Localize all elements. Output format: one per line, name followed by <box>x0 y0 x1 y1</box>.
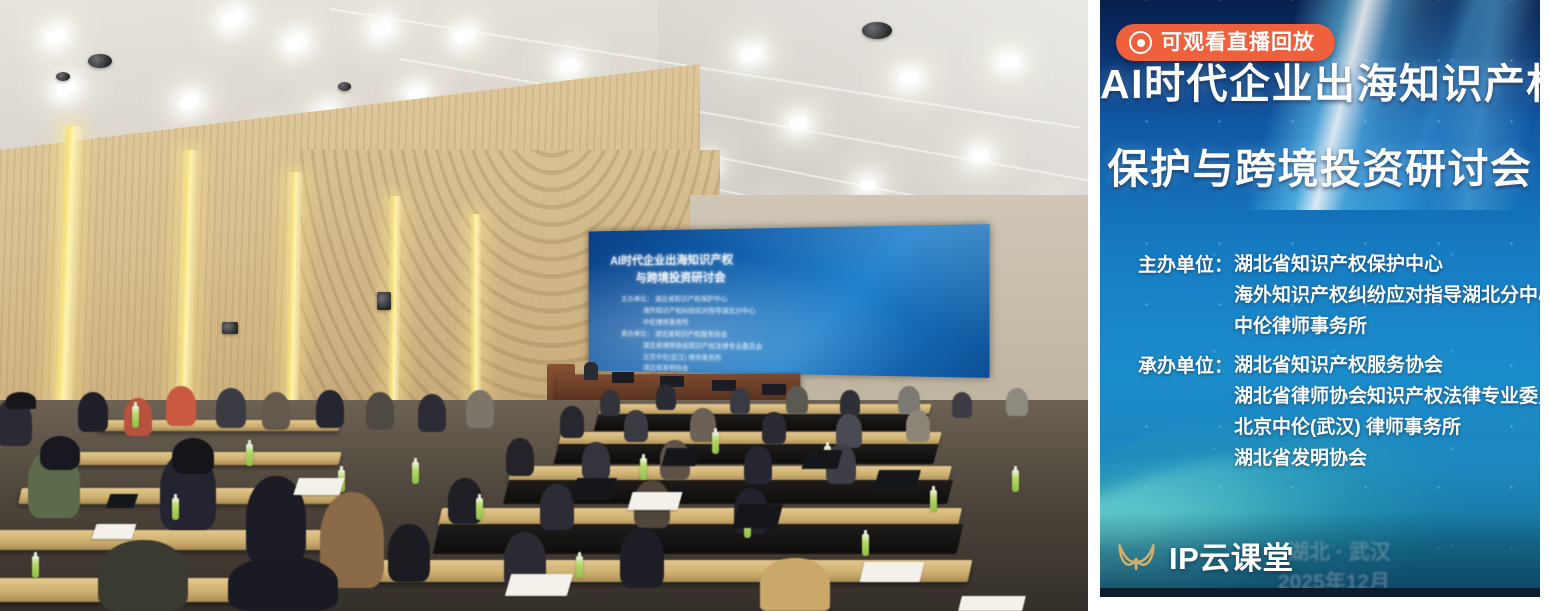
water-bottle <box>246 444 253 466</box>
organizer-item: 湖北省知识产权服务协会 <box>1234 351 1540 382</box>
water-bottle <box>32 556 39 578</box>
poster-title-line2: 保护与跨境投资研讨会 <box>1100 135 1540 195</box>
water-bottle <box>640 458 647 480</box>
audience-member <box>78 392 108 432</box>
audience-member <box>418 394 446 432</box>
audience-member <box>656 384 676 410</box>
event-poster-image: 可观看直播回放 AI时代企业出海知识产权 保护与跨境投资研讨会 主办单位： 湖北… <box>1100 0 1540 597</box>
water-bottle <box>172 498 179 520</box>
table-monitor <box>612 372 634 383</box>
document-sheet <box>627 492 682 510</box>
water-bottle <box>476 498 483 520</box>
screen-body-1: 海外知识产权纠纷应对指导湖北分中心 <box>643 306 756 316</box>
audience-member <box>744 446 772 484</box>
screen-body-6: 湖北省发明协会 <box>643 363 689 374</box>
smartphone <box>106 494 139 508</box>
audience-member <box>624 410 648 442</box>
screen-body-4: 湖北省律师协会知识产权法律专业委员会 <box>643 341 762 352</box>
document-sheet <box>293 478 345 495</box>
water-bottle <box>1012 470 1019 492</box>
audience-member <box>582 442 610 480</box>
organizer-item: 中伦律师事务所 <box>1234 312 1540 343</box>
organizer-list-host: 湖北省知识产权保护中心 海外知识产权纠纷应对指导湖北分中心 中伦律师事务所 <box>1234 250 1540 342</box>
organizer-group-co-host: 承办单位： 湖北省知识产权服务协会 湖北省律师协会知识产权法律专业委员会 北京中… <box>1138 351 1538 474</box>
document-sheet <box>860 562 925 582</box>
poster-place-text: 湖北 · 武汉 <box>1288 536 1391 566</box>
organizer-group-host: 主办单位： 湖北省知识产权保护中心 海外知识产权纠纷应对指导湖北分中心 中伦律师… <box>1138 250 1538 342</box>
water-bottle <box>132 406 139 428</box>
ceiling-light <box>999 55 1018 69</box>
audience-member <box>388 524 430 582</box>
led-screen: AI时代企业出海知识产权 与跨境投资研讨会 主办单位： 湖北省知识产权保护中心 … <box>589 224 990 378</box>
poster-title-line1: AI时代企业出海知识产权 <box>1100 50 1540 110</box>
audience-member <box>216 388 246 428</box>
organizer-label-host: 主办单位： <box>1138 250 1234 277</box>
audience-member <box>620 528 664 588</box>
laptop <box>733 504 783 528</box>
audience-member <box>1006 388 1028 416</box>
water-bottle <box>930 490 937 512</box>
audience-member <box>98 540 188 611</box>
document-sheet <box>505 574 573 596</box>
audience-member <box>316 390 344 428</box>
ceiling-light <box>971 149 988 162</box>
speaker-at-podium <box>584 362 598 380</box>
audience-cap <box>6 392 36 409</box>
brand-name: IP云课堂 <box>1169 543 1294 574</box>
audience-member <box>228 556 338 611</box>
audience-member <box>952 392 972 418</box>
table-monitor <box>762 384 786 395</box>
ceiling-speaker <box>862 22 892 39</box>
audience-member <box>840 390 860 416</box>
screen-body-3: 承办单位： 湖北省知识产权服务协会 <box>621 329 727 340</box>
audience-member <box>466 390 494 428</box>
screen-title-line2: 与跨境投资研讨会 <box>636 268 726 285</box>
screen-body-0: 主办单位： 湖北省知识产权保护中心 <box>621 294 727 304</box>
composite-image: AI时代企业出海知识产权 与跨境投资研讨会 主办单位： 湖北省知识产权保护中心 … <box>0 0 1549 611</box>
brand-lockup: IP云课堂 <box>1116 541 1294 575</box>
audience-member <box>730 388 750 414</box>
water-bottle <box>576 556 583 578</box>
document-sheet <box>958 596 1026 611</box>
audience-head <box>40 436 80 470</box>
laptop <box>801 450 842 469</box>
document-sheet <box>92 524 137 539</box>
organizer-block: 主办单位： 湖北省知识产权保护中心 海外知识产权纠纷应对指导湖北分中心 中伦律师… <box>1138 250 1538 483</box>
laptop <box>571 478 617 500</box>
audience-member <box>560 406 584 438</box>
screen-body-5: 北京中伦(武汉) 律师事务所 <box>643 352 721 363</box>
audience-head <box>172 438 214 474</box>
ceiling-speaker <box>56 72 70 81</box>
audience-member <box>906 410 930 442</box>
organizer-item: 湖北省律师协会知识产权法律专业委员会 <box>1234 382 1540 413</box>
laptop <box>661 448 700 466</box>
water-bottle <box>712 432 719 454</box>
screen-body-2: 中伦律师事务所 <box>643 317 689 327</box>
audience-member <box>540 484 574 530</box>
audience-member <box>262 392 290 430</box>
audience-member <box>836 414 862 448</box>
table-monitor <box>712 380 736 391</box>
screen-title-line1: AI时代企业出海知识产权 <box>610 251 733 269</box>
conference-hall-photo: AI时代企业出海知识产权 与跨境投资研讨会 主办单位： 湖北省知识产权保护中心 … <box>0 0 1088 611</box>
organizer-label-co-host: 承办单位： <box>1138 351 1234 378</box>
audience-member <box>786 386 808 414</box>
laptop <box>873 470 921 492</box>
wall-speaker <box>377 292 391 310</box>
ceiling-speaker <box>88 54 112 68</box>
water-bottle <box>412 462 419 484</box>
organizer-item: 湖北省发明协会 <box>1234 444 1540 475</box>
ceiling-speaker <box>338 82 351 91</box>
organizer-item: 海外知识产权纠纷应对指导湖北分中心 <box>1234 281 1540 312</box>
poster-footer-strip <box>1100 588 1540 597</box>
water-bottle <box>862 534 869 556</box>
audience-member <box>600 390 620 416</box>
organizer-list-co-host: 湖北省知识产权服务协会 湖北省律师协会知识产权法律专业委员会 北京中伦(武汉) … <box>1234 351 1540 474</box>
audience-member <box>760 558 830 611</box>
wall-speaker <box>222 322 238 334</box>
audience-member <box>166 386 196 426</box>
butterfly-logo-icon <box>1116 541 1158 575</box>
audience-member <box>366 392 394 430</box>
organizer-item: 湖北省知识产权保护中心 <box>1234 250 1540 281</box>
audience-member <box>762 412 786 444</box>
organizer-item: 北京中伦(武汉) 律师事务所 <box>1234 413 1540 444</box>
audience-member <box>506 438 534 476</box>
